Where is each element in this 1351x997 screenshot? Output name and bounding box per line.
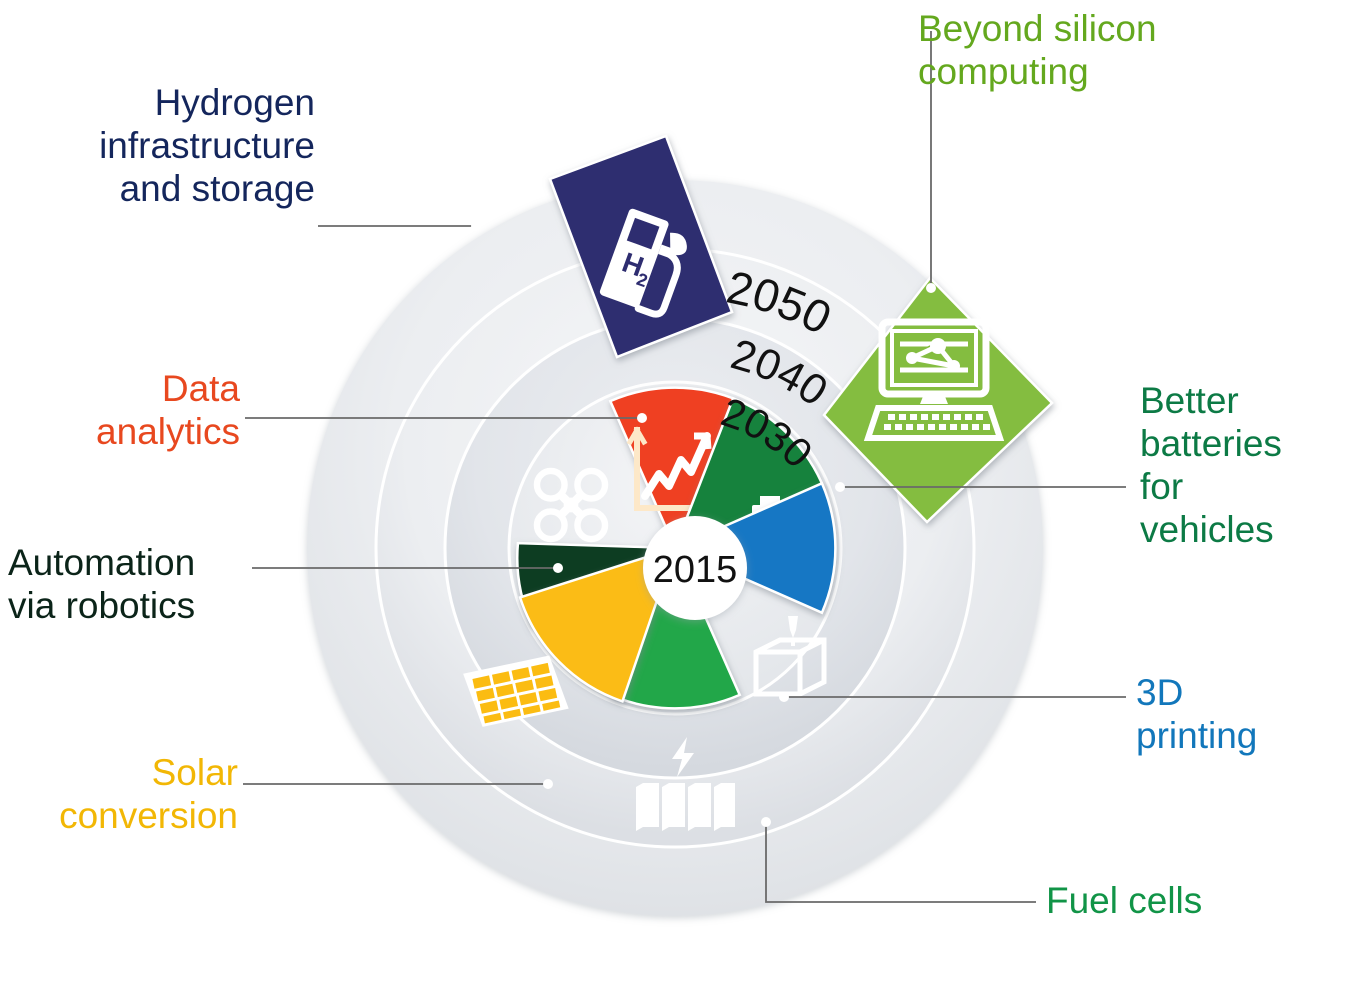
callout-automation-via-robotics[interactable]: Automation via robotics <box>8 542 258 628</box>
radial-roadmap-diagram: H 2 <box>0 0 1351 997</box>
callout-hydrogen-infrastructure[interactable]: Hydrogen infrastructure and storage <box>40 82 315 211</box>
callout-fuel-cells[interactable]: Fuel cells <box>1046 880 1296 923</box>
callout-beyond-silicon-computing[interactable]: Beyond silicon computing <box>918 8 1248 94</box>
center-year-label: 2015 <box>653 549 738 591</box>
callout-3d-printing[interactable]: 3D printing <box>1136 672 1336 758</box>
callout-solar-conversion[interactable]: Solar conversion <box>0 752 238 838</box>
callout-better-batteries[interactable]: Better batteries for vehicles <box>1140 380 1350 552</box>
callout-data-analytics[interactable]: Data analytics <box>60 368 240 454</box>
